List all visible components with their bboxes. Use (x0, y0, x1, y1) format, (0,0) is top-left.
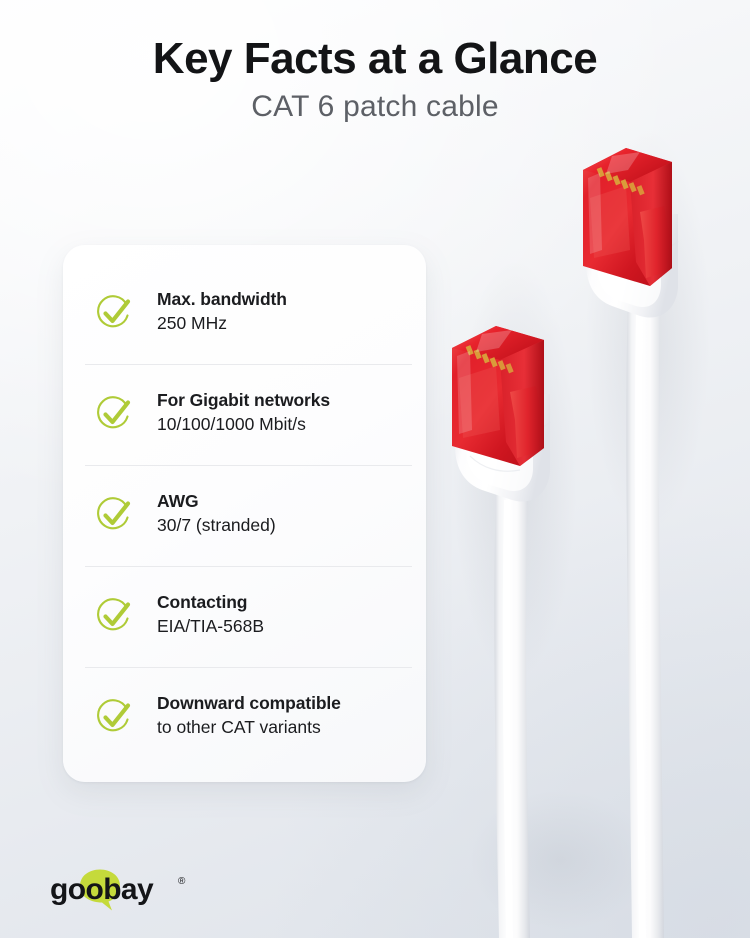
check-circle-icon (93, 594, 135, 636)
fact-value: 250 MHz (157, 313, 227, 333)
goobay-logo: goobay ® (50, 868, 200, 912)
fact-value: EIA/TIA-568B (157, 616, 264, 636)
fact-value: 10/100/1000 Mbit/s (157, 414, 306, 434)
rj45-boot-right (586, 214, 678, 318)
check-circle-icon (93, 392, 135, 434)
cable-strand-left (494, 490, 530, 938)
fact-label: AWG (157, 491, 199, 511)
check-circle-icon (93, 291, 135, 333)
goobay-wordmark: goobay (50, 873, 154, 906)
registered-trademark-icon: ® (178, 876, 186, 887)
fact-value: to other CAT variants (157, 717, 321, 737)
fact-label: Max. bandwidth (157, 289, 287, 309)
rj45-connector-left (452, 326, 544, 466)
infographic-page: Key Facts at a Glance CAT 6 patch cable … (0, 0, 750, 938)
rj45-connector-right (583, 148, 672, 286)
fact-row: For Gigabit networks 10/100/1000 Mbit/s (63, 364, 426, 462)
fact-row: Max. bandwidth 250 MHz (63, 263, 426, 361)
connector-pins-left (466, 345, 514, 373)
key-facts-card: Max. bandwidth 250 MHz For Gigabit netwo… (63, 245, 426, 782)
fact-label: Downward compatible (157, 693, 341, 713)
fact-label: Contacting (157, 592, 247, 612)
header: Key Facts at a Glance CAT 6 patch cable (0, 34, 750, 125)
cable-strand-right (626, 300, 664, 938)
fact-value: 30/7 (stranded) (157, 515, 276, 535)
connector-pins-right (597, 167, 645, 195)
page-subtitle: CAT 6 patch cable (0, 89, 750, 125)
rj45-boot-left (455, 394, 550, 502)
page-title: Key Facts at a Glance (0, 34, 750, 83)
fact-row: Downward compatible to other CAT variant… (63, 667, 426, 765)
fact-row: AWG 30/7 (stranded) (63, 465, 426, 563)
fact-row: Contacting EIA/TIA-568B (63, 566, 426, 664)
fact-label: For Gigabit networks (157, 390, 330, 410)
check-circle-icon (93, 695, 135, 737)
check-circle-icon (93, 493, 135, 535)
